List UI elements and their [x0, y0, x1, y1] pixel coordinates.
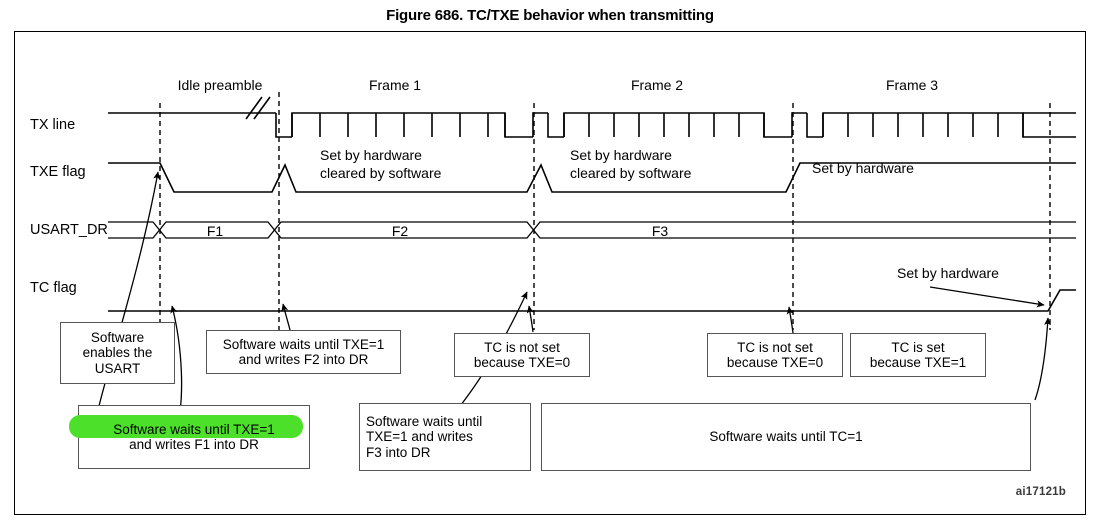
idle-preamble-break-icon: [246, 97, 270, 119]
bus-value-f1: F1: [165, 223, 265, 239]
frame-label-frame-2: Frame 2: [607, 77, 707, 93]
callout-tc-not-set-first[interactable]: TC is not set because TXE=0: [454, 333, 590, 377]
signal-label-tx-line: TX line: [30, 117, 75, 133]
annotation-txe-cleared-sw-2: cleared by software: [570, 165, 691, 181]
callout-line: TXE=1 and writes: [366, 429, 473, 445]
callout-software-waits-txe-writes-f2[interactable]: Software waits until TXE=1 and writes F2…: [206, 330, 401, 374]
time-markers: [160, 92, 1050, 330]
callout-software-waits-txe-writes-f3[interactable]: Software waits until TXE=1 and writes F3…: [359, 403, 531, 471]
callout-line: Software waits until: [366, 414, 482, 430]
callout-line: because TXE=1: [870, 355, 966, 371]
callout-line: F3 into DR: [366, 445, 431, 461]
signal-label-tc-flag: TC flag: [30, 280, 77, 296]
tx-line-bitcells-frame1: [292, 113, 505, 137]
callout-tc-is-set[interactable]: TC is set because TXE=1: [850, 333, 986, 377]
annotation-txe-cleared-sw-1: cleared by software: [320, 165, 441, 181]
figure-id-watermark: ai17121b: [1016, 486, 1066, 498]
callout-line: Software waits until TXE=1: [113, 422, 274, 438]
callout-line: TC is set: [891, 340, 944, 356]
callout-line: and writes F2 into DR: [239, 352, 369, 368]
callout-line: Software waits until TXE=1: [223, 337, 384, 353]
callout-line: TC is not set: [484, 340, 560, 356]
frame-label-idle-preamble: Idle preamble: [165, 77, 275, 93]
annotation-txe-set-hw-1: Set by hardware: [320, 147, 422, 163]
arrow-tc-set-by-hardware: [930, 287, 1044, 305]
signal-label-txe-flag: TXE flag: [30, 164, 86, 180]
callout-line: USART: [95, 361, 141, 377]
callout-software-waits-txe-writes-f1[interactable]: Software waits until TXE=1 and writes F1…: [78, 405, 310, 469]
bus-value-f2: F2: [350, 223, 450, 239]
frame-label-frame-3: Frame 3: [862, 77, 962, 93]
annotation-txe-set-hw-2: Set by hardware: [570, 147, 672, 163]
tx-line-bitcells-frame3: [823, 113, 1023, 137]
arrow-tc-is-set: [1035, 318, 1048, 400]
callout-tc-not-set-second[interactable]: TC is not set because TXE=0: [707, 333, 843, 377]
annotation-tc-set-hw: Set by hardware: [897, 265, 999, 281]
callout-line: enables the: [83, 345, 153, 361]
annotation-txe-set-hw-3: Set by hardware: [812, 160, 914, 176]
callout-software-waits-tc[interactable]: Software waits until TC=1: [541, 403, 1031, 471]
callout-line: because TXE=0: [727, 355, 823, 371]
annotation-arrows: [98, 172, 1048, 438]
bus-value-f3: F3: [610, 223, 710, 239]
frame-label-frame-1: Frame 1: [345, 77, 445, 93]
callout-line: TC is not set: [737, 340, 813, 356]
callout-line: because TXE=0: [474, 355, 570, 371]
signal-label-usart-dr: USART_DR: [30, 222, 108, 238]
tc-flag-waveform: [108, 290, 1076, 311]
arrow-tc-not-set-1: [529, 306, 533, 332]
callout-line: Software waits until TC=1: [709, 429, 862, 445]
callout-software-enables-usart[interactable]: Software enables the USART: [60, 322, 175, 384]
tx-line-waveform: [108, 113, 1076, 137]
callout-line: and writes F1 into DR: [129, 437, 259, 453]
callout-line: Software: [91, 330, 144, 346]
tx-line-bitcells-frame2: [564, 113, 764, 137]
arrow-software-waits-f2: [283, 304, 290, 330]
